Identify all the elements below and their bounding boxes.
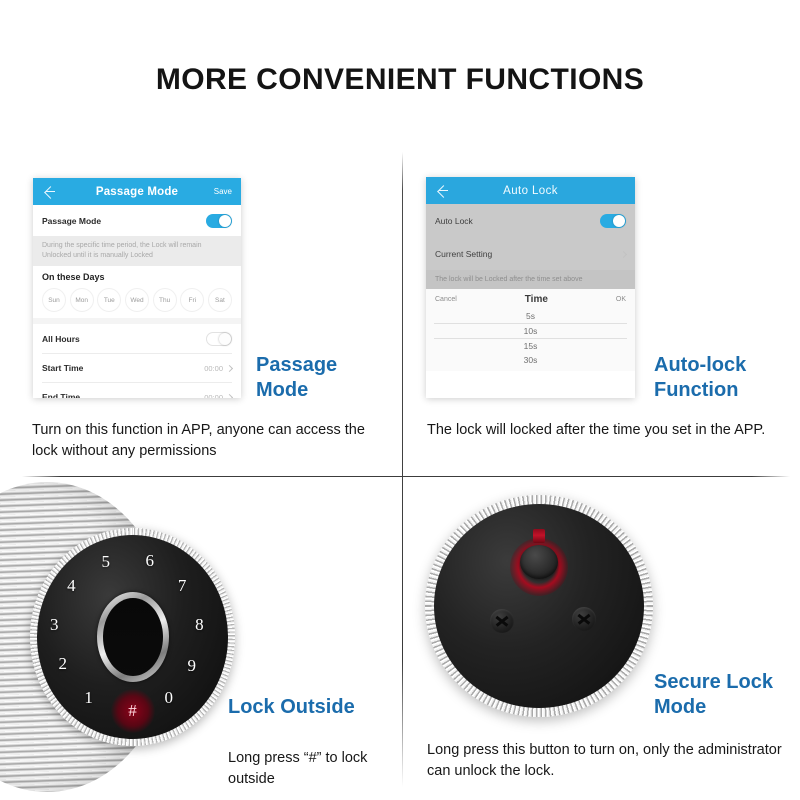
keypad-key-7[interactable]: 7: [178, 576, 187, 596]
keypad-key-0[interactable]: 0: [165, 688, 174, 708]
auto-lock-caption: The lock will locked after the time you …: [427, 420, 777, 441]
ok-button[interactable]: OK: [616, 296, 626, 303]
start-time-row[interactable]: Start Time 00:00: [33, 354, 241, 382]
passage-mode-heading: Passage Mode: [256, 353, 396, 403]
day-chip-tue[interactable]: Tue: [97, 288, 121, 312]
time-picker-title: Time: [525, 294, 548, 305]
keypad-key-hash-glyph: #: [128, 701, 137, 721]
app-bar-title: Passage Mode: [33, 186, 241, 198]
time-option-5s[interactable]: 5s: [426, 309, 635, 323]
screw-icon-left: [490, 609, 514, 633]
toggle-knob: [219, 333, 231, 345]
save-button[interactable]: Save: [214, 187, 232, 196]
vertical-divider: [402, 152, 403, 787]
passage-mode-heading-line1: Passage: [256, 353, 396, 378]
day-selector[interactable]: Sun Mon Tue Wed Thu Fri Sat: [33, 286, 241, 318]
secure-lock-caption: Long press this button to turn on, only …: [427, 740, 782, 782]
auto-lock-heading-line1: Auto-lock: [654, 353, 794, 378]
start-time-value: 00:00: [204, 364, 223, 373]
day-chip-mon[interactable]: Mon: [70, 288, 94, 312]
poster-root: MORE CONVENIENT FUNCTIONS Passage Mode S…: [0, 0, 800, 800]
keypad-key-4[interactable]: 4: [67, 576, 76, 596]
secure-lock-face: [434, 504, 644, 708]
day-chip-sat[interactable]: Sat: [208, 288, 232, 312]
auto-lock-note: The lock will be Locked after the time s…: [426, 270, 635, 289]
chevron-right-icon: [226, 364, 233, 371]
start-time-value-group: 00:00: [204, 364, 232, 373]
keypad-key-hash[interactable]: #: [111, 689, 155, 733]
app-bar-passage: Passage Mode Save: [33, 178, 241, 205]
time-option-30s[interactable]: 30s: [426, 353, 635, 367]
secure-lock-photo: [425, 495, 653, 717]
chevron-right-icon: [226, 393, 233, 398]
passage-mode-toggle[interactable]: [206, 214, 232, 228]
time-picker[interactable]: Cancel Time OK 5s 10s 15s 30s: [426, 289, 635, 371]
current-setting-row[interactable]: Current Setting: [426, 238, 635, 270]
all-hours-row[interactable]: All Hours: [33, 324, 241, 353]
app-bar-autolock: Auto Lock: [426, 177, 635, 204]
lock-outside-heading-line1: Lock Outside: [228, 695, 403, 720]
secure-lock-red-tab: [533, 529, 545, 543]
secure-lock-heading-line2: Mode: [654, 695, 800, 720]
passage-mode-label: Passage Mode: [42, 216, 101, 226]
keypad-key-2[interactable]: 2: [59, 654, 68, 674]
passage-mode-toggle-row[interactable]: Passage Mode: [33, 205, 241, 236]
all-hours-label: All Hours: [42, 334, 80, 344]
end-time-label: End Time: [42, 392, 80, 398]
cancel-button[interactable]: Cancel: [435, 296, 457, 303]
secure-lock-heading-line1: Secure Lock: [654, 670, 800, 695]
secure-lock-heading: Secure Lock Mode: [654, 670, 800, 720]
chevron-right-icon: [620, 250, 627, 257]
auto-lock-heading: Auto-lock Function: [654, 353, 794, 403]
end-time-value-group: 00:00: [204, 393, 232, 399]
keypad-key-1[interactable]: 1: [84, 688, 93, 708]
page-title: MORE CONVENIENT FUNCTIONS: [0, 63, 800, 97]
on-these-days-heading: On these Days: [33, 266, 241, 286]
day-chip-thu[interactable]: Thu: [153, 288, 177, 312]
auto-lock-heading-line2: Function: [654, 378, 794, 403]
auto-lock-screenshot: Auto Lock Auto Lock Current Setting The …: [426, 177, 635, 398]
screw-icon-right: [572, 607, 596, 631]
time-option-10s[interactable]: 10s: [426, 324, 635, 338]
passage-mode-heading-line2: Mode: [256, 378, 396, 403]
day-chip-sun[interactable]: Sun: [42, 288, 66, 312]
all-hours-toggle[interactable]: [206, 332, 232, 346]
time-option-15s[interactable]: 15s: [426, 339, 635, 353]
passage-mode-screenshot: Passage Mode Save Passage Mode During th…: [33, 178, 241, 398]
keypad-key-6[interactable]: 6: [145, 551, 154, 571]
app-bar-title: Auto Lock: [426, 185, 635, 197]
lock-outside-heading: Lock Outside: [228, 695, 403, 720]
auto-lock-body: Auto Lock Current Setting The lock will …: [426, 204, 635, 289]
auto-lock-toggle-row[interactable]: Auto Lock: [426, 204, 635, 238]
time-picker-header: Cancel Time OK: [426, 289, 635, 309]
current-setting-label: Current Setting: [435, 249, 492, 259]
passage-mode-note: During the specific time period, the Loc…: [33, 236, 241, 266]
keypad-center-ring: [97, 592, 169, 682]
end-time-value: 00:00: [204, 393, 223, 399]
day-chip-wed[interactable]: Wed: [125, 288, 149, 312]
end-time-row[interactable]: End Time 00:00: [33, 383, 241, 398]
start-time-label: Start Time: [42, 363, 83, 373]
keypad-key-8[interactable]: 8: [195, 615, 204, 635]
passage-mode-caption: Turn on this function in APP, anyone can…: [32, 420, 382, 462]
keypad-photo: 1 2 3 4 5 6 7 8 9 0 #: [30, 528, 235, 746]
horizontal-divider: [22, 476, 790, 477]
keypad-face: 1 2 3 4 5 6 7 8 9 0 #: [37, 535, 228, 739]
keypad-key-3[interactable]: 3: [50, 615, 59, 635]
toggle-knob: [219, 215, 231, 227]
keypad-key-5[interactable]: 5: [102, 552, 111, 572]
keypad-key-9[interactable]: 9: [187, 656, 196, 676]
day-chip-fri[interactable]: Fri: [180, 288, 204, 312]
auto-lock-label: Auto Lock: [435, 216, 473, 226]
secure-lock-button[interactable]: [520, 545, 558, 579]
auto-lock-toggle[interactable]: [600, 214, 626, 228]
lock-outside-caption: Long press “#” to lock outside: [228, 748, 393, 790]
toggle-knob: [613, 215, 625, 227]
